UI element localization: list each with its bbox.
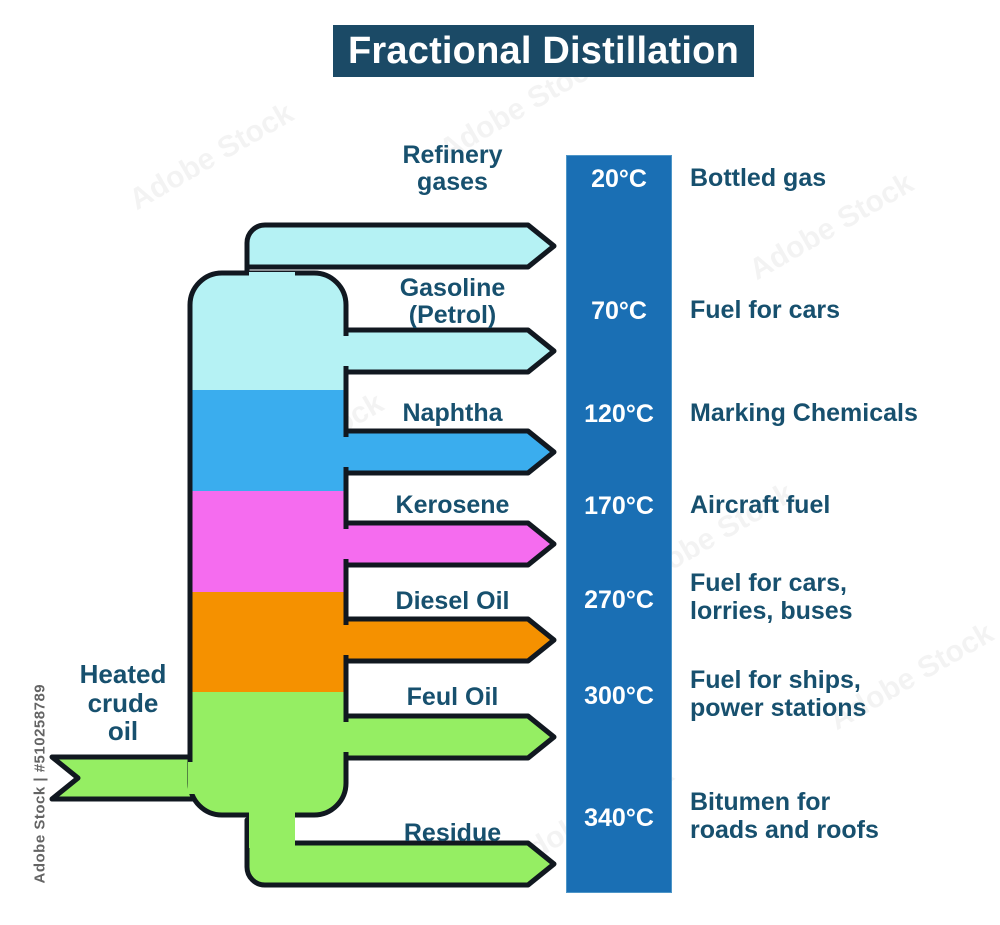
neck-diesel bbox=[340, 625, 358, 655]
temperature-270: 270°C bbox=[566, 588, 672, 613]
watermark-attribution: Adobe Stock | #510258789 bbox=[32, 624, 49, 884]
neck-gasoline bbox=[340, 336, 358, 366]
outlet-fuel-oil bbox=[330, 716, 554, 758]
column-inlet-neck bbox=[188, 762, 236, 794]
temperature-120: 120°C bbox=[566, 402, 672, 427]
fraction-label-refinery-gases: Refinery gases bbox=[340, 142, 565, 196]
fraction-label-residue: Residue bbox=[340, 820, 565, 847]
outlet-diesel-oil bbox=[330, 619, 554, 661]
use-label-fuel-for-cars: Fuel for cars bbox=[690, 297, 990, 325]
neck-fuel-oil bbox=[340, 722, 358, 752]
column-bottom-neck bbox=[249, 812, 295, 848]
column-top-neck bbox=[249, 272, 295, 308]
inlet-label-heated-crude-oil: Heated crude oil bbox=[48, 660, 198, 746]
temperature-scale-bar bbox=[566, 155, 672, 893]
use-label-marking-chemicals: Marking Chemicals bbox=[690, 400, 990, 428]
neck-kerosene bbox=[340, 529, 358, 559]
fraction-label-kerosene: Kerosene bbox=[340, 492, 565, 519]
outlet-naphtha bbox=[330, 431, 554, 473]
temperature-340: 340°C bbox=[566, 806, 672, 831]
band-naphtha bbox=[186, 390, 354, 491]
temperature-300: 300°C bbox=[566, 684, 672, 709]
neck-naphtha bbox=[340, 437, 358, 467]
fraction-label-gasoline: Gasoline (Petrol) bbox=[340, 275, 565, 329]
fraction-label-fuel-oil: Feul Oil bbox=[340, 684, 565, 711]
fraction-label-naphtha: Naphtha bbox=[340, 400, 565, 427]
use-label-diesel-uses: Fuel for cars, lorries, buses bbox=[690, 570, 990, 625]
use-label-aircraft-fuel: Aircraft fuel bbox=[690, 492, 990, 520]
use-label-fuel-oil-uses: Fuel for ships, power stations bbox=[690, 667, 990, 722]
use-label-bottled-gas: Bottled gas bbox=[690, 165, 990, 193]
band-kerosene bbox=[186, 491, 354, 592]
fraction-label-diesel-oil: Diesel Oil bbox=[340, 588, 565, 615]
distillation-column-graphic bbox=[0, 0, 1000, 925]
use-label-bitumen: Bitumen for roads and roofs bbox=[690, 789, 990, 844]
diagram-canvas: Adobe Stock Adobe Stock Adobe Stock Adob… bbox=[0, 0, 1000, 925]
temperature-70: 70°C bbox=[566, 299, 672, 324]
outlet-kerosene bbox=[330, 523, 554, 565]
temperature-20: 20°C bbox=[566, 167, 672, 192]
band-diesel bbox=[186, 592, 354, 692]
temperature-170: 170°C bbox=[566, 494, 672, 519]
